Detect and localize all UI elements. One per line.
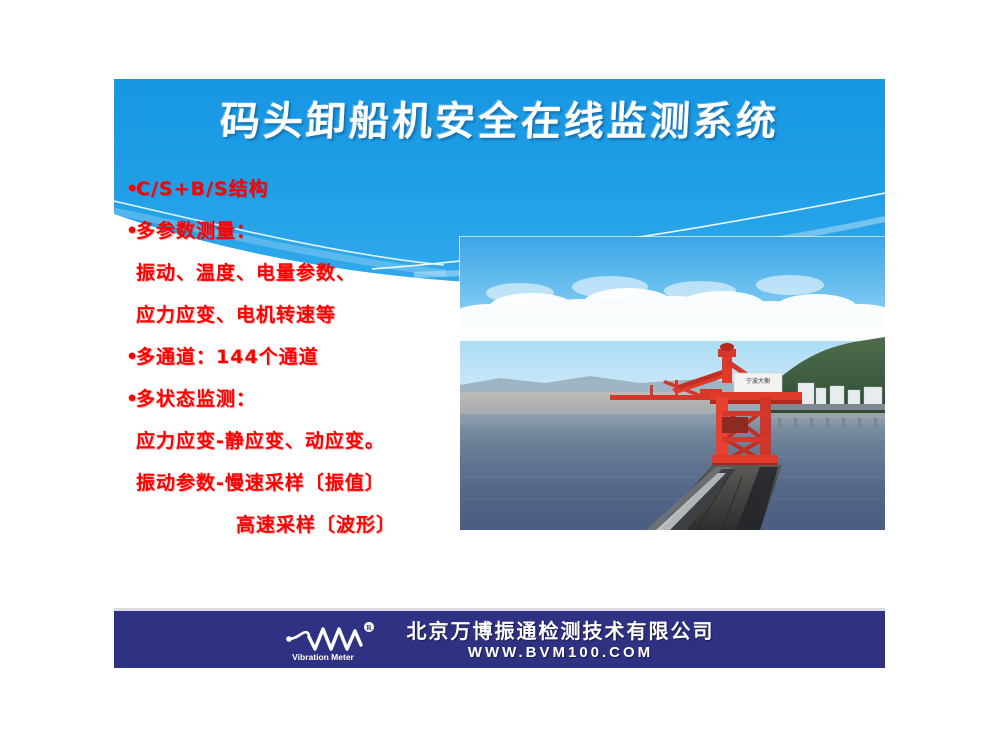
bullet-item: •C/S+B/S结构 xyxy=(126,168,471,210)
svg-text:宁波大榭: 宁波大榭 xyxy=(746,377,770,385)
bullet-text: 应力应变-静应变、动应变。 xyxy=(136,430,385,452)
bullet-list: •C/S+B/S结构 •多参数测量： 振动、温度、电量参数、 应力应变、电机转速… xyxy=(126,168,471,546)
bullet-text: 多参数测量： xyxy=(136,220,256,242)
bullet-text: C/S+B/S结构 xyxy=(136,178,269,200)
bullet-item: 振动、温度、电量参数、 xyxy=(126,252,471,294)
bullet-text: 应力应变、电机转速等 xyxy=(136,304,336,326)
page-title: 码头卸船机安全在线监测系统 xyxy=(113,98,887,146)
bullet-item: •多通道：144个通道 xyxy=(126,336,471,378)
bullet-marker: • xyxy=(126,168,136,210)
bullet-item: •多参数测量： xyxy=(126,210,471,252)
bullet-marker: • xyxy=(126,378,136,420)
logo-wordmark: Vibration Meter xyxy=(292,652,354,662)
bullet-item: •多状态监测： xyxy=(126,378,471,420)
footer-bar: R Vibration Meter 北京万博振通检测技术有限公司 WWW.BVM… xyxy=(114,608,885,668)
bullet-text: 振动、温度、电量参数、 xyxy=(136,262,356,284)
company-website: WWW.BVM100.COM xyxy=(468,645,653,661)
bullet-text: 高速采样〔波形〕 xyxy=(236,514,396,536)
bullet-marker: • xyxy=(126,210,136,252)
company-name: 北京万博振通检测技术有限公司 xyxy=(407,621,715,642)
port-ship-unloader-photo: 宁波大榭 xyxy=(460,237,885,530)
bullet-text: 振动参数-慢速采样〔振值〕 xyxy=(136,472,385,494)
vibration-meter-logo-icon: R Vibration Meter xyxy=(285,619,393,663)
slide-root: 码头卸船机安全在线监测系统 •C/S+B/S结构 •多参数测量： 振动、温度、电… xyxy=(0,0,1000,750)
bullet-item: 应力应变-静应变、动应变。 xyxy=(126,420,471,462)
bullet-item: 高速采样〔波形〕 xyxy=(126,504,471,546)
bullet-marker: • xyxy=(126,336,136,378)
bullet-item: 应力应变、电机转速等 xyxy=(126,294,471,336)
bullet-text: 多通道：144个通道 xyxy=(136,346,319,368)
bullet-text: 多状态监测： xyxy=(136,388,256,410)
bullet-item: 振动参数-慢速采样〔振值〕 xyxy=(126,462,471,504)
